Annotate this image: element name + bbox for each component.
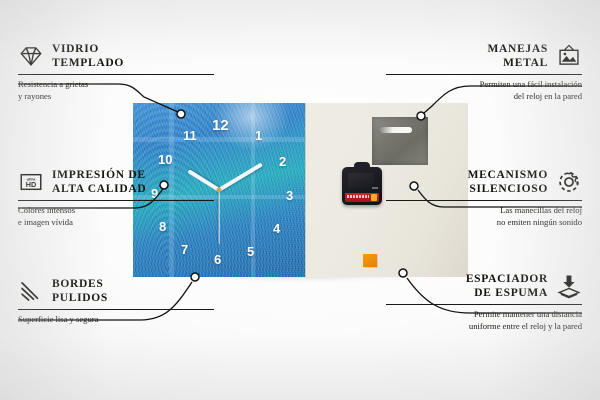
callout-title-line2: TEMPLADO xyxy=(52,56,124,70)
callout-title-line2: DE ESPUMA xyxy=(466,286,548,300)
callout-subtitle-line2: y rayones xyxy=(18,91,214,103)
clock-numeral-7: 7 xyxy=(181,243,188,256)
clock-numeral-4: 4 xyxy=(273,222,280,235)
callout-rule xyxy=(18,74,214,75)
infographic-canvas: 12 1 2 3 4 5 6 7 8 9 10 11 xyxy=(0,0,600,400)
callout-manejas-metal[interactable]: MANEJAS METAL Permiten una fácil instala… xyxy=(386,42,582,103)
callout-title-line2: METAL xyxy=(488,56,549,70)
callout-title-line2: PULIDOS xyxy=(52,291,108,305)
callout-subtitle-line1: Superficie lisa y segura xyxy=(18,314,214,326)
foam-spacer xyxy=(363,254,377,267)
battery-terminal xyxy=(371,194,377,201)
callout-rule xyxy=(386,200,582,201)
callout-subtitle-line2: del reloj en la pared xyxy=(386,91,582,103)
callout-subtitle-line2: uniforme entre el reloj y la pared xyxy=(386,321,582,333)
battery-label xyxy=(347,195,369,198)
callout-subtitle-line1: Resistencia a grietas xyxy=(18,79,214,91)
clock-numeral-3: 3 xyxy=(286,189,293,202)
callout-header: ESPACIADOR DE ESPUMA xyxy=(386,272,582,300)
callout-subtitle-line1: Colores intensos xyxy=(18,205,214,217)
mechanism-marking xyxy=(372,187,378,189)
callout-bordes-pulidos[interactable]: BORDES PULIDOS Superficie lisa y segura xyxy=(18,277,214,326)
callout-impresion-alta-calidad[interactable]: ultra HD IMPRESIÓN DE ALTA CALIDAD Color… xyxy=(18,168,214,229)
callout-subtitle-line2: no emiten ningún sonido xyxy=(386,217,582,229)
callout-title-line1: MANEJAS xyxy=(488,42,549,56)
callout-title-line1: ESPACIADOR xyxy=(466,272,548,286)
callout-title-line2: SILENCIOSO xyxy=(468,182,548,196)
mechanism-box xyxy=(342,167,382,205)
callout-rule xyxy=(18,200,214,201)
clock-numeral-2: 2 xyxy=(279,155,286,168)
foam-spacer-icon xyxy=(556,273,582,299)
clock-numeral-11: 11 xyxy=(183,129,197,142)
mechanism-hook xyxy=(354,162,370,169)
callout-subtitle-line1: Las manecillas del reloj xyxy=(386,205,582,217)
clock-numeral-1: 1 xyxy=(255,129,262,142)
clock-second-hand xyxy=(218,190,219,244)
callout-title-line1: MECANISMO xyxy=(468,168,548,182)
callout-rule xyxy=(386,74,582,75)
clock-numeral-5: 5 xyxy=(247,245,254,258)
callout-title-line2: ALTA CALIDAD xyxy=(52,182,146,196)
callout-espaciador-de-espuma[interactable]: ESPACIADOR DE ESPUMA Permite mantener un… xyxy=(386,272,582,333)
hanger-slot-icon xyxy=(380,127,412,133)
callout-title-line1: BORDES xyxy=(52,277,108,291)
svg-text:HD: HD xyxy=(26,180,37,189)
battery-strip xyxy=(345,193,379,202)
callout-rule xyxy=(386,304,582,305)
clock-numeral-6: 6 xyxy=(214,253,221,266)
clock-center-cap xyxy=(217,188,222,193)
callout-title-line1: IMPRESIÓN DE xyxy=(52,168,146,182)
clock-numeral-10: 10 xyxy=(158,153,172,166)
diagonal-lines-icon xyxy=(18,278,44,304)
callout-subtitle-line1: Permiten una fácil instalación xyxy=(386,79,582,91)
callout-subtitle-line2: e imagen vívida xyxy=(18,217,214,229)
callout-subtitle-line1: Permite mantener una distancia xyxy=(386,309,582,321)
callout-title-line1: VIDRIO xyxy=(52,42,124,56)
callout-mecanismo-silencioso[interactable]: MECANISMO SILENCIOSO Las manecillas del … xyxy=(386,168,582,229)
gear-icon xyxy=(556,169,582,195)
callout-rule xyxy=(18,309,214,310)
hanger-plate xyxy=(372,117,428,165)
diamond-icon xyxy=(18,43,44,69)
mechanism-emboss xyxy=(348,173,374,189)
ultra-hd-icon: ultra HD xyxy=(18,169,44,195)
callout-header: VIDRIO TEMPLADO xyxy=(18,42,214,70)
callout-header: MECANISMO SILENCIOSO xyxy=(386,168,582,196)
clock-numeral-12: 12 xyxy=(212,118,229,133)
wall-hanger-icon xyxy=(556,43,582,69)
callout-header: BORDES PULIDOS xyxy=(18,277,214,305)
callout-vidrio-templado[interactable]: VIDRIO TEMPLADO Resistencia a grietas y … xyxy=(18,42,214,103)
callout-header: MANEJAS METAL xyxy=(386,42,582,70)
callout-header: ultra HD IMPRESIÓN DE ALTA CALIDAD xyxy=(18,168,214,196)
